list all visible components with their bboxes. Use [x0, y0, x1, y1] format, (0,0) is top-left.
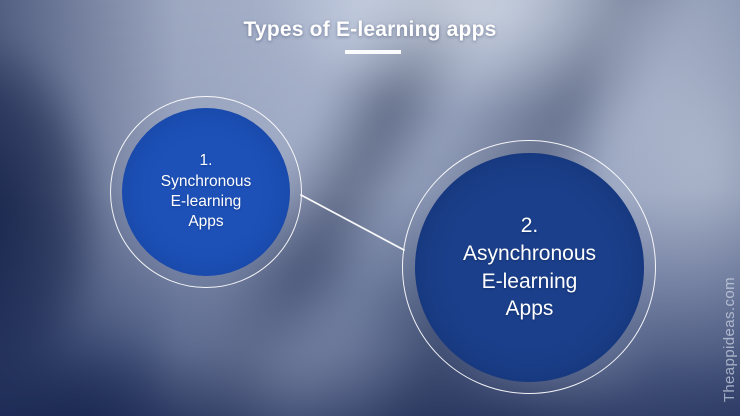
slide-canvas: Types of E-learning apps 1. Synchronous …: [0, 0, 740, 416]
node-2-line-2: E-learning: [482, 270, 578, 293]
page-title: Types of E-learning apps: [0, 18, 740, 42]
node-1-line-2: E-learning: [171, 193, 242, 210]
node-2-label: 2. Asynchronous E-learning Apps: [463, 212, 596, 323]
title-underline-rule: [345, 50, 401, 54]
node-1-synchronous[interactable]: 1. Synchronous E-learning Apps: [122, 108, 290, 276]
site-watermark: Theappideas.com: [721, 277, 738, 402]
node-1-number: 1.: [161, 151, 251, 171]
node-2-line-1: Asynchronous: [463, 242, 596, 265]
node-2-asynchronous[interactable]: 2. Asynchronous E-learning Apps: [415, 153, 644, 382]
node-2-line-3: Apps: [506, 297, 554, 320]
node-1-line-3: Apps: [188, 213, 223, 230]
node-2-number: 2.: [463, 212, 596, 240]
node-1-line-1: Synchronous: [161, 173, 251, 190]
node-1-label: 1. Synchronous E-learning Apps: [161, 151, 251, 233]
